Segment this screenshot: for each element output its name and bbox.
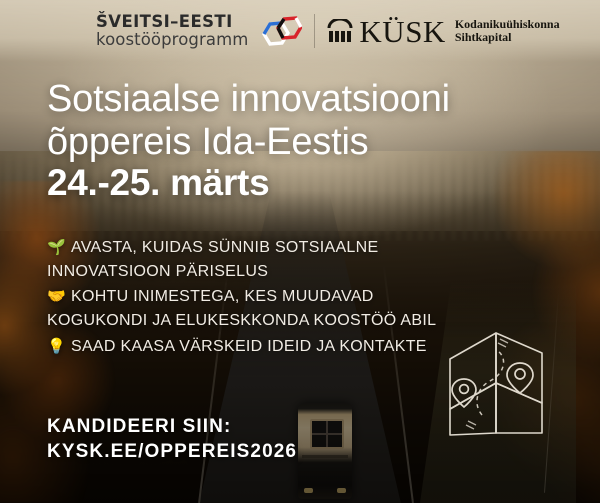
folded-map-with-pins xyxy=(438,329,588,441)
list-item: 🌱Avasta, kuidas sünnib sotsiaalne innova… xyxy=(47,236,477,283)
event-date: 24.-25. märts xyxy=(47,162,269,204)
poster-content: Sotsiaalse innovatsiooni õppereis Ida-Ee… xyxy=(0,0,600,503)
list-item-text: Avasta, kuidas sünnib sotsiaalne innovat… xyxy=(47,239,378,280)
poster: ŠVEITSI–EESTI koostööprogramm KÜSK xyxy=(0,0,600,503)
bullet-list: 🌱Avasta, kuidas sünnib sotsiaalne innova… xyxy=(47,236,477,360)
cta-label: Kandideeri siin: xyxy=(47,414,297,439)
list-item-text: Saad kaasa värskeid ideid ja kontakte xyxy=(71,338,427,355)
map-pin-right xyxy=(507,363,533,393)
map-pin-left xyxy=(452,379,476,407)
page-title: Sotsiaalse innovatsiooni õppereis Ida-Ee… xyxy=(47,78,547,164)
call-to-action[interactable]: Kandideeri siin: kysk.ee/oppereis2026 xyxy=(47,414,297,464)
cta-url[interactable]: kysk.ee/oppereis2026 xyxy=(47,439,297,464)
list-item: 💡Saad kaasa värskeid ideid ja kontakte xyxy=(47,335,477,359)
list-item-text: Kohtu inimestega, kes muudavad kogukondi… xyxy=(47,288,436,329)
handshake-emoji: 🤝 xyxy=(47,287,66,305)
title-line-1: Sotsiaalse innovatsiooni xyxy=(47,78,547,121)
seedling-emoji: 🌱 xyxy=(47,238,66,256)
light-bulb-emoji: 💡 xyxy=(47,337,66,355)
title-line-2: õppereis Ida-Eestis xyxy=(47,121,547,164)
list-item: 🤝Kohtu inimestega, kes muudavad kogukond… xyxy=(47,285,477,332)
